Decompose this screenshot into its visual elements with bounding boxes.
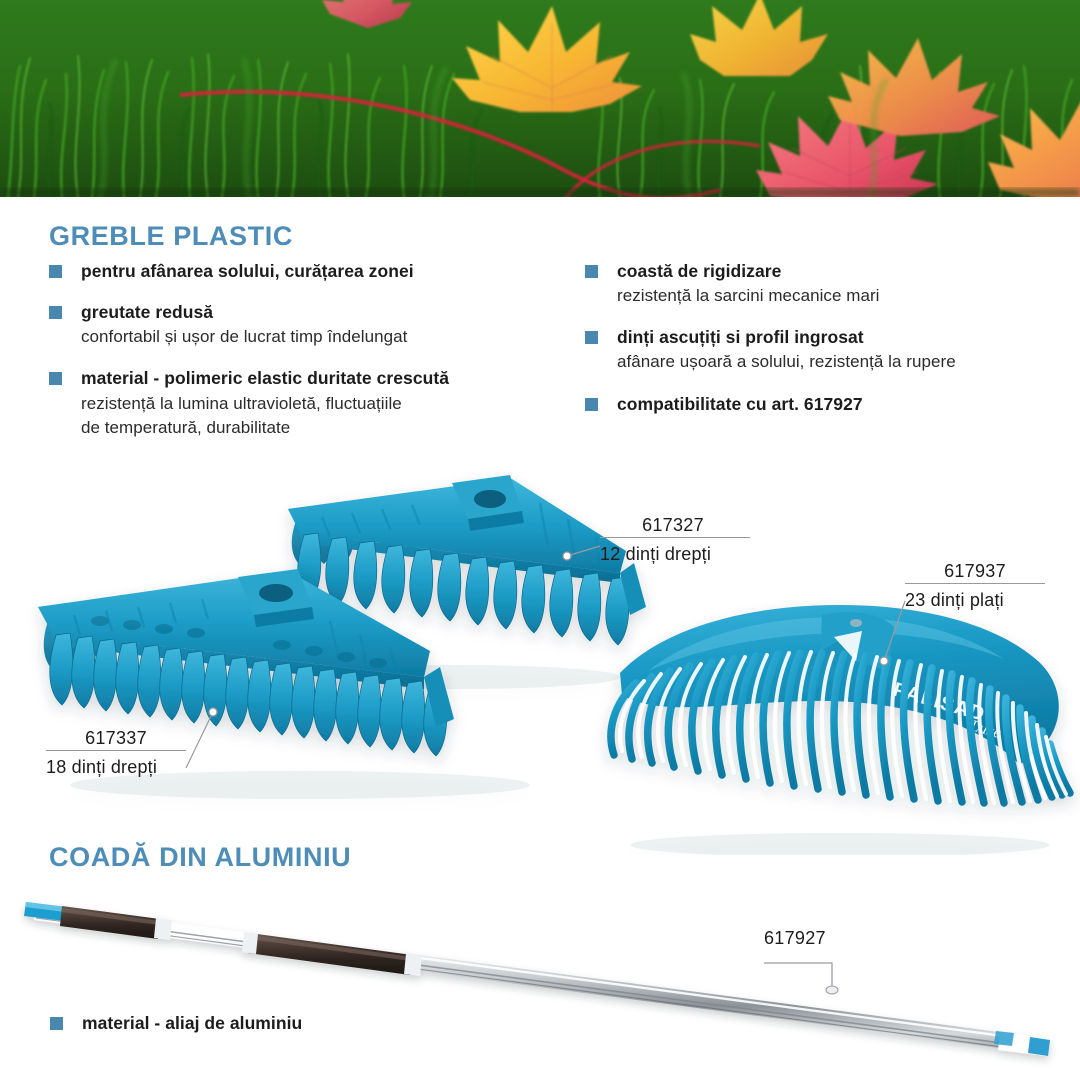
feature-heading: compatibilitate cu art. 617927 — [617, 392, 1055, 416]
feature-heading: pentru afânarea solului, curățarea zonei — [81, 259, 569, 283]
feature-heading: dinți ascuțiți si profil ingrosat — [617, 325, 1055, 349]
feature-item: material - polimeric elastic duritate cr… — [49, 366, 569, 439]
callout-description: 23 dinți plați — [905, 584, 1045, 612]
feature-heading: material - aliaj de aluminiu — [40, 1011, 302, 1035]
feature-item: compatibilitate cu art. 617927 — [585, 392, 1055, 416]
callout-article-number: 617937 — [905, 560, 1045, 583]
feature-item: greutate redusă confortabil și ușor de l… — [49, 300, 569, 349]
callout-617927: 617927 — [740, 927, 850, 950]
feature-subtext: rezistență la sarcini mecanice mari — [617, 284, 1055, 308]
feature-heading: material - polimeric elastic duritate cr… — [81, 366, 569, 390]
callout-article-number: 617327 — [600, 514, 750, 537]
bullet-square-icon — [49, 306, 62, 319]
feature-subtext: afânare ușoară a solului, rezistență la … — [617, 350, 1055, 374]
infographic-page: GREBLE PLASTIC pentru afânarea solului, … — [0, 0, 1080, 1080]
bullet-square-icon — [50, 1017, 63, 1030]
product-images: PALISAD Luxe — [0, 455, 1080, 855]
feature-item: dinți ascuțiți si profil ingrosat afânar… — [585, 325, 1055, 374]
callout-description: 18 dinți drepți — [46, 751, 186, 779]
callout-617337: 617337 18 dinți drepți — [46, 727, 186, 779]
product-aluminium-handle — [0, 880, 1080, 1080]
feature-item: pentru afânarea solului, curățarea zonei — [49, 259, 569, 283]
callout-article-number: 617927 — [740, 927, 850, 950]
feature-subtext: rezistență la lumina ultravioletă, fluct… — [81, 392, 569, 440]
handle-material-note: material - aliaj de aluminiu — [40, 1005, 316, 1042]
bullet-square-icon — [585, 398, 598, 411]
feature-heading: greutate redusă — [81, 300, 569, 324]
feature-list-right: coastă de rigidizare rezistență la sarci… — [585, 259, 1055, 433]
callout-617327: 617327 12 dinți drepți — [600, 514, 750, 566]
feature-heading: coastă de rigidizare — [617, 259, 1055, 283]
callout-description: 12 dinți drepți — [600, 538, 750, 566]
bullet-square-icon — [585, 331, 598, 344]
bullet-square-icon — [49, 372, 62, 385]
hero-image — [0, 0, 1080, 197]
product-fan-rake: PALISAD Luxe — [611, 605, 1070, 855]
feature-subtext: confortabil și ușor de lucrat timp îndel… — [81, 325, 569, 349]
callout-617937: 617937 23 dinți plați — [905, 560, 1045, 612]
callout-article-number: 617337 — [46, 727, 186, 750]
feature-item: coastă de rigidizare rezistență la sarci… — [585, 259, 1055, 308]
feature-list-left: pentru afânarea solului, curățarea zonei… — [49, 259, 569, 457]
bullet-square-icon — [585, 265, 598, 278]
page-title-rakes: GREBLE PLASTIC — [49, 221, 293, 252]
page-title-handle: COADĂ DIN ALUMINIU — [49, 842, 351, 873]
bullet-square-icon — [49, 265, 62, 278]
